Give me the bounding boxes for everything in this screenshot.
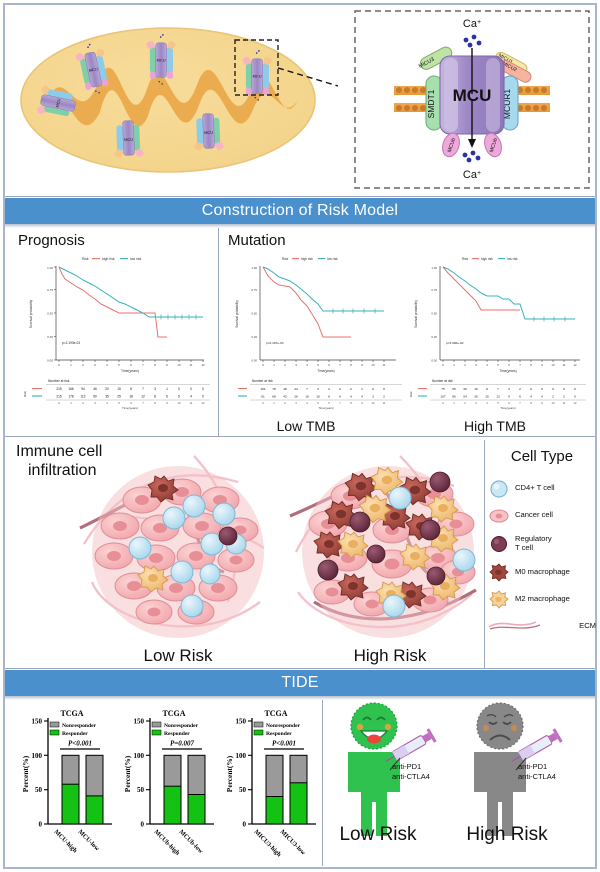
svg-text:0.00: 0.00 — [47, 359, 53, 363]
low-risk-drug-2: anti-CTLA4 — [392, 772, 430, 782]
svg-text:26: 26 — [294, 395, 298, 399]
svg-text:Time(years): Time(years) — [121, 369, 139, 373]
svg-text:0.25: 0.25 — [47, 335, 53, 339]
svg-text:100: 100 — [32, 752, 43, 760]
svg-text:2: 2 — [284, 401, 286, 405]
svg-text:Time(years): Time(years) — [317, 369, 334, 373]
section-band-risk-model: Construction of Risk Model — [5, 198, 595, 224]
km-curve-low-risk-high-tmb — [443, 267, 575, 319]
svg-text:0: 0 — [190, 387, 192, 391]
bc1-legend-nonresponder: Nonresponder — [62, 723, 97, 729]
svg-text:0: 0 — [262, 401, 264, 405]
svg-text:75: 75 — [441, 387, 445, 391]
high-risk-caption: High Risk — [330, 646, 450, 666]
svg-text:6: 6 — [508, 363, 510, 367]
km-legend-low-tmb: Risk high risk low risk — [282, 257, 338, 261]
svg-text:215: 215 — [56, 395, 62, 399]
svg-text:low risk: low risk — [507, 257, 518, 261]
svg-text:1: 1 — [273, 363, 275, 367]
svg-text:0: 0 — [58, 363, 60, 367]
svg-text:4: 4 — [486, 363, 488, 367]
svg-text:7: 7 — [142, 363, 144, 367]
svg-text:112: 112 — [80, 395, 85, 399]
bc1-legend-responder: Responder — [62, 731, 88, 737]
bc2-pvalue: P=0.007 — [170, 740, 195, 748]
svg-text:0: 0 — [574, 387, 576, 391]
bc2-title: TCGA — [162, 709, 185, 718]
svg-text:18: 18 — [129, 395, 133, 399]
svg-text:0: 0 — [541, 387, 543, 391]
bc3-legend-responder: Responder — [266, 731, 292, 737]
svg-text:MCU: MCU — [204, 130, 213, 135]
svg-text:150: 150 — [32, 718, 43, 726]
low-tmb-km-plot: Risk high risk low risk 0.000.25 0.500.7… — [226, 252, 406, 410]
svg-text:12: 12 — [201, 363, 205, 367]
prognosis-km-plot: Risk high risk low risk 0.000.25 0.500.7… — [18, 252, 214, 410]
bc2-legend-responder: Responder — [164, 731, 190, 737]
legend-title: Cell Type — [488, 448, 596, 465]
divider-top — [5, 196, 595, 197]
svg-text:5: 5 — [497, 401, 499, 405]
svg-text:11: 11 — [190, 401, 193, 405]
tide-barchart-mcub: TCGA Nonresponder Responder 050 100150 P… — [118, 700, 218, 867]
bc1-ylabel: Percent(%) — [21, 755, 30, 792]
svg-text:0.75: 0.75 — [251, 288, 257, 292]
svg-text:3: 3 — [475, 363, 477, 367]
svg-text:0: 0 — [58, 401, 60, 405]
svg-text:0.00: 0.00 — [431, 359, 437, 363]
high-risk-person-caption: High Risk — [452, 824, 562, 846]
svg-text:5: 5 — [118, 401, 120, 405]
svg-text:8: 8 — [350, 363, 352, 367]
svg-text:215: 215 — [56, 387, 62, 391]
low-tmb-caption: Low TMB — [236, 418, 376, 434]
svg-text:9: 9 — [361, 363, 363, 367]
regulatory-t-cell — [219, 527, 237, 545]
svg-text:10: 10 — [372, 401, 375, 405]
svg-text:1.00: 1.00 — [47, 266, 53, 270]
svg-text:high risk: high risk — [301, 257, 313, 261]
svg-text:150: 150 — [236, 718, 247, 726]
low-risk-person-caption: Low Risk — [326, 824, 430, 846]
svg-text:100: 100 — [134, 752, 145, 760]
svg-text:low risk: low risk — [327, 257, 338, 261]
svg-text:2: 2 — [552, 395, 554, 399]
svg-text:6: 6 — [339, 395, 341, 399]
svg-text:2: 2 — [339, 387, 341, 391]
svg-text:50: 50 — [137, 786, 145, 794]
svg-text:4: 4 — [350, 395, 352, 399]
svg-text:Survival probability: Survival probability — [235, 300, 239, 328]
svg-text:7: 7 — [519, 401, 521, 405]
svg-text:Risk: Risk — [462, 257, 469, 261]
svg-text:Survival probability: Survival probability — [414, 300, 418, 328]
svg-text:54: 54 — [463, 395, 467, 399]
km-legend-high-tmb: Risk high risk low risk — [462, 257, 518, 261]
svg-text:Time(years): Time(years) — [499, 369, 516, 373]
svg-text:0: 0 — [442, 401, 444, 405]
svg-text:0: 0 — [383, 387, 385, 391]
svg-text:Risk: Risk — [282, 257, 289, 261]
svg-text:16: 16 — [474, 387, 478, 391]
bc2-xlabel-2: MCUb-low — [178, 828, 205, 855]
svg-text:1: 1 — [361, 387, 363, 391]
svg-text:2: 2 — [82, 363, 84, 367]
svg-text:1: 1 — [453, 401, 455, 405]
svg-text:5: 5 — [118, 363, 120, 367]
svg-text:7: 7 — [306, 387, 308, 391]
km-curve-high-risk — [59, 267, 167, 337]
svg-text:2: 2 — [328, 387, 330, 391]
svg-text:0.75: 0.75 — [431, 288, 437, 292]
bc3-pvalue: P<0.001 — [272, 740, 296, 748]
svg-text:3: 3 — [295, 363, 297, 367]
svg-text:5: 5 — [497, 363, 499, 367]
svg-text:6: 6 — [130, 363, 132, 367]
svg-text:10: 10 — [177, 401, 181, 405]
mcu-complex-detail-panel: MICU3 MICU1 MICU2 SMDT1 MCUR1 MCU — [352, 8, 592, 191]
svg-text:10: 10 — [371, 363, 375, 367]
svg-text:13: 13 — [496, 395, 500, 399]
bc2-xlabel-1: MCUb-high — [153, 828, 182, 857]
km-legend-prognosis: Risk high risk low risk — [82, 257, 142, 261]
svg-text:68: 68 — [272, 395, 276, 399]
legend-item-m0: M0 macrophage — [488, 559, 596, 586]
svg-text:9: 9 — [361, 401, 363, 405]
svg-text:25: 25 — [117, 395, 121, 399]
svg-text:78: 78 — [272, 387, 276, 391]
svg-text:Risk: Risk — [82, 257, 89, 261]
svg-text:0: 0 — [372, 387, 374, 391]
svg-text:1: 1 — [273, 401, 275, 405]
high-risk-drug-2: anti-CTLA4 — [518, 772, 556, 782]
regulatory-t-cell-icon — [488, 533, 510, 555]
svg-text:11: 11 — [189, 363, 192, 367]
legend-label-ecm: ECM — [577, 622, 596, 631]
svg-text:46: 46 — [93, 387, 97, 391]
svg-text:1: 1 — [70, 401, 72, 405]
bc3-title: TCGA — [264, 709, 287, 718]
low-risk-caption: Low Risk — [118, 646, 238, 666]
svg-text:Risk: Risk — [23, 391, 27, 397]
svg-text:101: 101 — [260, 387, 265, 391]
svg-text:12: 12 — [201, 401, 205, 405]
svg-text:8: 8 — [154, 395, 156, 399]
high-risk-person: anti-PD1 anti-CTLA4 High Risk — [456, 700, 586, 845]
tide-barchart-mcu: TCGA Nonresponder Responder 050 100150 P… — [16, 700, 116, 867]
svg-text:6: 6 — [519, 395, 521, 399]
svg-text:8: 8 — [530, 363, 532, 367]
svg-text:50: 50 — [35, 786, 43, 794]
svg-text:2: 2 — [82, 401, 84, 405]
svg-text:178: 178 — [68, 395, 74, 399]
high-risk-drug-1: anti-PD1 — [518, 762, 556, 772]
km-pvalue-high-tmb: p=3.096e-02 — [446, 341, 464, 345]
svg-text:4: 4 — [106, 401, 108, 405]
svg-text:48: 48 — [283, 387, 287, 391]
svg-text:94: 94 — [81, 387, 85, 391]
svg-text:3: 3 — [372, 395, 374, 399]
m0-macrophage-icon — [488, 562, 510, 584]
svg-text:9: 9 — [166, 363, 168, 367]
svg-text:2: 2 — [284, 363, 286, 367]
svg-text:high risk: high risk — [102, 257, 115, 261]
svg-text:3: 3 — [94, 401, 96, 405]
svg-text:15: 15 — [117, 387, 121, 391]
svg-text:3: 3 — [475, 401, 477, 405]
svg-text:Time(years): Time(years) — [318, 406, 333, 410]
svg-text:20: 20 — [105, 387, 109, 391]
svg-text:4: 4 — [306, 363, 308, 367]
svg-text:9: 9 — [508, 395, 510, 399]
svg-text:7: 7 — [497, 387, 499, 391]
svg-text:3: 3 — [154, 387, 156, 391]
svg-text:4: 4 — [106, 363, 108, 367]
svg-text:16: 16 — [305, 395, 309, 399]
bc2-ylabel: Percent(%) — [123, 755, 132, 792]
svg-text:6: 6 — [328, 401, 330, 405]
svg-text:MCU: MCU — [253, 74, 262, 79]
low-risk-person: anti-PD1 anti-CTLA4 Low Risk — [330, 700, 460, 845]
svg-text:1: 1 — [166, 387, 168, 391]
prognosis-section-title: Prognosis — [18, 232, 85, 249]
svg-text:0: 0 — [552, 387, 554, 391]
svg-text:55: 55 — [452, 387, 456, 391]
svg-text:0: 0 — [530, 387, 532, 391]
svg-text:6: 6 — [328, 363, 330, 367]
band-title-risk: Construction of Risk Model — [202, 202, 398, 220]
bc1-xlabel-2: MCU-low — [77, 828, 101, 852]
svg-text:35: 35 — [105, 395, 109, 399]
divider-legend — [484, 440, 485, 668]
svg-text:42: 42 — [283, 395, 287, 399]
bc1-title: TCGA — [60, 709, 83, 718]
svg-text:5: 5 — [317, 363, 319, 367]
svg-text:10: 10 — [551, 363, 555, 367]
svg-text:0: 0 — [141, 821, 145, 829]
svg-text:12: 12 — [141, 395, 145, 399]
band-title-tide: TIDE — [281, 674, 318, 692]
svg-text:0.50: 0.50 — [47, 312, 53, 316]
svg-text:5: 5 — [178, 395, 180, 399]
km-curve-low-risk — [59, 267, 203, 317]
bc3-ylabel: Percent(%) — [225, 755, 234, 792]
svg-text:Survival probability: Survival probability — [29, 299, 33, 328]
graphical-abstract-figure: MCU MCU MCU — [0, 0, 600, 872]
legend-item-treg: RegulatoryT cell — [488, 529, 596, 559]
svg-text:0.75: 0.75 — [47, 288, 53, 292]
svg-text:4: 4 — [486, 401, 488, 405]
svg-text:0.25: 0.25 — [431, 335, 437, 339]
cd4-t-cell-icon — [488, 478, 510, 500]
bc2-legend-nonresponder: Nonresponder — [164, 723, 199, 729]
svg-text:1: 1 — [453, 363, 455, 367]
svg-text:15: 15 — [485, 395, 489, 399]
svg-text:11: 11 — [383, 401, 386, 405]
svg-text:3: 3 — [295, 401, 297, 405]
legend-item-ecm: ECM — [488, 613, 596, 640]
svg-text:107: 107 — [440, 395, 445, 399]
svg-text:10: 10 — [177, 363, 181, 367]
svg-text:85: 85 — [452, 395, 456, 399]
section-band-tide: TIDE — [5, 670, 595, 696]
svg-text:11: 11 — [562, 363, 565, 367]
svg-text:4: 4 — [541, 395, 543, 399]
legend-item-cd4: CD4+ T cell — [488, 475, 596, 502]
svg-text:0: 0 — [442, 363, 444, 367]
risk-table-title: Number at risk — [48, 379, 70, 383]
svg-text:35: 35 — [474, 395, 478, 399]
legend-item-cancer: Cancer cell — [488, 502, 596, 529]
legend-label-cancer: Cancer cell — [515, 511, 553, 520]
bc1-xlabel-1: MCU-high — [53, 828, 79, 854]
svg-text:7: 7 — [142, 401, 144, 405]
low-risk-drug-label: anti-PD1 anti-CTLA4 — [392, 762, 430, 782]
tide-barchart-micu3: TCGA Nonresponder Responder 050 100150 P… — [220, 700, 320, 867]
svg-text:8: 8 — [154, 363, 156, 367]
svg-text:Time(years): Time(years) — [122, 406, 138, 410]
svg-text:0: 0 — [202, 387, 204, 391]
svg-text:2: 2 — [464, 363, 466, 367]
high-tmb-caption: High TMB — [420, 418, 570, 434]
svg-text:1.00: 1.00 — [251, 266, 257, 270]
svg-text:12: 12 — [573, 363, 577, 367]
svg-text:7: 7 — [142, 387, 144, 391]
low-risk-drug-1: anti-PD1 — [392, 762, 430, 772]
svg-text:MCU: MCU — [157, 58, 166, 63]
svg-text:61: 61 — [261, 395, 265, 399]
svg-text:7: 7 — [339, 363, 341, 367]
svg-text:9: 9 — [166, 401, 168, 405]
svg-text:0.25: 0.25 — [251, 335, 257, 339]
svg-text:Number at risk: Number at risk — [432, 379, 453, 383]
divider-infiltration-tide — [5, 668, 595, 669]
svg-text:1.00: 1.00 — [431, 266, 437, 270]
cell-type-legend: Cell Type CD4+ T cell Cancer cell Regula… — [488, 448, 596, 653]
svg-text:2: 2 — [350, 387, 352, 391]
svg-text:30: 30 — [463, 387, 467, 391]
svg-text:9: 9 — [486, 387, 488, 391]
svg-text:6: 6 — [166, 395, 168, 399]
svg-text:150: 150 — [134, 718, 145, 726]
mutation-section-title: Mutation — [228, 232, 286, 249]
high-risk-tumor-cluster — [288, 452, 488, 652]
svg-text:8: 8 — [530, 401, 532, 405]
svg-text:10: 10 — [552, 401, 555, 405]
ecm-icon — [488, 616, 577, 637]
svg-text:1: 1 — [70, 363, 72, 367]
svg-text:0.50: 0.50 — [431, 312, 437, 316]
high-tmb-km-plot: Risk high risk low risk 0.000.25 0.500.7… — [404, 252, 590, 410]
svg-text:8: 8 — [350, 401, 352, 405]
km-curve-high-risk-low-tmb — [263, 267, 351, 337]
svg-text:0: 0 — [202, 395, 204, 399]
cancer-cell-icon — [488, 505, 510, 527]
svg-text:9: 9 — [541, 363, 543, 367]
legend-item-m2: M2 macrophage — [488, 586, 596, 613]
svg-text:2: 2 — [464, 401, 466, 405]
svg-text:3: 3 — [94, 363, 96, 367]
svg-text:3: 3 — [317, 387, 319, 391]
svg-text:100: 100 — [236, 752, 247, 760]
legend-label-treg: RegulatoryT cell — [515, 535, 552, 552]
svg-text:11: 11 — [382, 363, 385, 367]
svg-text:24: 24 — [294, 387, 298, 391]
svg-text:0: 0 — [563, 387, 565, 391]
svg-text:0.00: 0.00 — [251, 359, 257, 363]
svg-text:SMDT1: SMDT1 — [426, 89, 436, 118]
legend-label-cd4: CD4+ T cell — [515, 484, 555, 493]
svg-text:0: 0 — [39, 821, 43, 829]
svg-text:2: 2 — [383, 395, 385, 399]
svg-text:5: 5 — [317, 401, 319, 405]
svg-text:low risk: low risk — [130, 257, 142, 261]
m2-macrophage-icon — [488, 589, 510, 611]
divider-tide-people — [322, 700, 323, 866]
svg-text:0.50: 0.50 — [251, 312, 257, 316]
svg-text:4: 4 — [306, 401, 308, 405]
svg-text:Risk: Risk — [409, 391, 413, 397]
svg-text:8: 8 — [130, 387, 132, 391]
svg-text:7: 7 — [519, 363, 521, 367]
svg-text:0: 0 — [243, 821, 247, 829]
svg-text:Number at risk: Number at risk — [252, 379, 273, 383]
svg-text:MCU: MCU — [124, 137, 133, 142]
high-risk-drug-label: anti-PD1 anti-CTLA4 — [518, 762, 556, 782]
low-risk-tumor-cluster — [78, 452, 278, 652]
svg-text:4: 4 — [361, 395, 363, 399]
svg-text:6: 6 — [508, 401, 510, 405]
svg-text:7: 7 — [339, 401, 341, 405]
svg-text:2: 2 — [563, 395, 565, 399]
km-pvalue-low-tmb: p=2.187e-03 — [266, 341, 284, 345]
band-shadow-risk — [5, 224, 595, 228]
svg-text:6: 6 — [328, 395, 330, 399]
svg-text:2: 2 — [519, 387, 521, 391]
legend-label-m0: M0 macrophage — [515, 568, 570, 577]
svg-text:9: 9 — [541, 401, 543, 405]
divider-mutation-infiltration — [5, 436, 595, 437]
svg-text:4: 4 — [190, 395, 192, 399]
svg-text:3: 3 — [508, 387, 510, 391]
svg-text:0: 0 — [178, 387, 180, 391]
svg-text:50: 50 — [239, 786, 247, 794]
mitochondrion-illustration: MCU MCU MCU — [8, 8, 338, 190]
bc3-legend-nonresponder: Nonresponder — [266, 723, 301, 729]
svg-text:10: 10 — [316, 395, 320, 399]
svg-text:11: 11 — [563, 401, 566, 405]
km-pvalue-prognosis: p=2.193e-03 — [62, 341, 80, 345]
svg-text:12: 12 — [574, 401, 577, 405]
km-curve-low-risk-low-tmb — [263, 267, 384, 311]
svg-text:8: 8 — [154, 401, 156, 405]
bc1-pvalue: P<0.001 — [68, 740, 92, 748]
svg-text:Time(years): Time(years) — [500, 406, 515, 410]
svg-text:166: 166 — [68, 387, 74, 391]
divider-prognosis-mutation — [218, 228, 219, 436]
svg-text:0: 0 — [574, 395, 576, 399]
svg-text:high risk: high risk — [481, 257, 493, 261]
svg-text:60: 60 — [93, 395, 97, 399]
svg-text:6: 6 — [130, 401, 132, 405]
legend-label-m2: M2 macrophage — [515, 595, 570, 604]
svg-text:0: 0 — [262, 363, 264, 367]
svg-text:4: 4 — [530, 395, 532, 399]
